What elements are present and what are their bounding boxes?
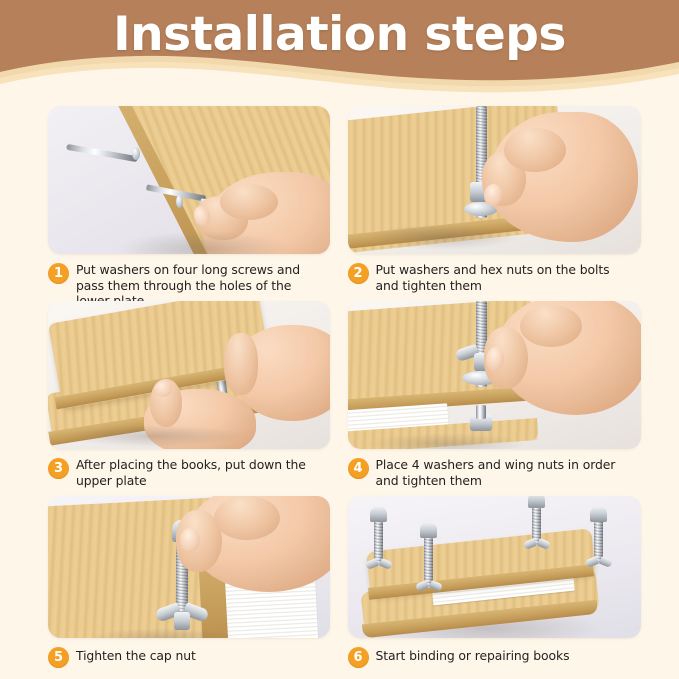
step-6: 6 Start binding or repairing books [340, 486, 679, 676]
step-6-caption: 6 Start binding or repairing books [348, 646, 642, 668]
step-5-badge: 5 [48, 647, 69, 668]
step-5: 5 Tighten the cap nut [0, 486, 340, 676]
step-3: 3 After placing the books, put down the … [0, 291, 340, 486]
step-2-caption: 2 Put washers and hex nuts on the bolts … [348, 262, 642, 293]
step-1-photo [48, 106, 330, 254]
steps-grid: 1 Put washers on four long screws and pa… [0, 96, 679, 679]
infographic-page: Installation steps [0, 0, 679, 679]
step-3-photo [48, 301, 330, 449]
step-6-photo [348, 496, 642, 638]
step-5-caption: 5 Tighten the cap nut [48, 646, 330, 668]
step-3-caption: 3 After placing the books, put down the … [48, 457, 330, 488]
step-4-photo [348, 301, 642, 449]
step-5-photo [48, 496, 330, 638]
step-4-badge: 4 [348, 458, 369, 479]
step-2: 2 Put washers and hex nuts on the bolts … [340, 96, 679, 291]
step-2-photo [348, 106, 642, 254]
step-6-badge: 6 [348, 647, 369, 668]
step-4: 4 Place 4 washers and wing nuts in order… [340, 291, 679, 486]
step-1-badge: 1 [48, 263, 69, 284]
step-2-badge: 2 [348, 263, 369, 284]
step-6-caption-text: Start binding or repairing books [376, 646, 570, 664]
step-5-caption-text: Tighten the cap nut [76, 646, 196, 664]
step-1: 1 Put washers on four long screws and pa… [0, 96, 340, 291]
step-4-caption-text: Place 4 washers and wing nuts in order a… [376, 457, 626, 488]
page-title: Installation steps [0, 6, 679, 64]
step-3-badge: 3 [48, 458, 69, 479]
step-2-caption-text: Put washers and hex nuts on the bolts an… [376, 262, 626, 293]
step-3-caption-text: After placing the books, put down the up… [76, 457, 326, 488]
step-4-caption: 4 Place 4 washers and wing nuts in order… [348, 457, 642, 488]
header-banner: Installation steps [0, 0, 679, 96]
